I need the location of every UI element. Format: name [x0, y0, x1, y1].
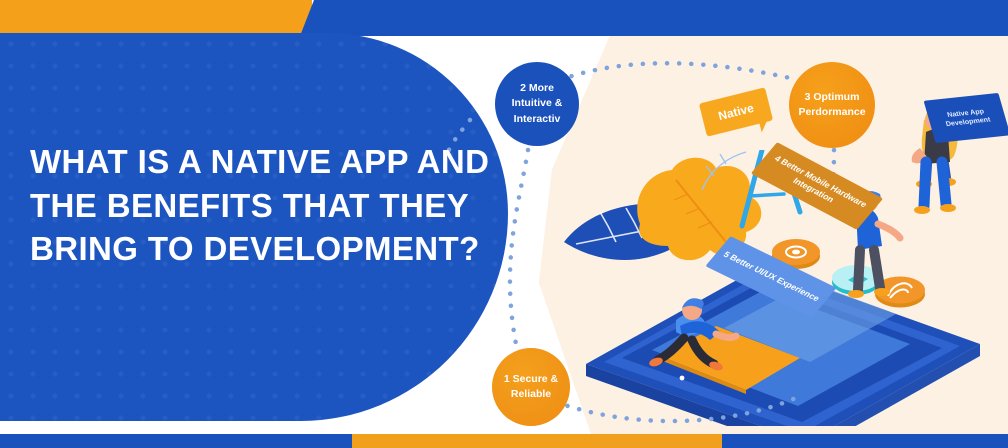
- badge-secure-reliable[interactable]: 1 Secure & Reliable: [492, 348, 570, 426]
- top-blue-strip: [300, 0, 1008, 36]
- banner-canvas: WHAT IS A NATIVE APP AND THE BENEFITS TH…: [0, 0, 1008, 448]
- page-title: WHAT IS A NATIVE APP AND THE BENEFITS TH…: [30, 140, 500, 271]
- badge-more-intuitive[interactable]: 2 More Intuitive & Interactiv: [495, 62, 579, 146]
- badge-optimum-performance[interactable]: 3 Optimum Perdormance: [789, 62, 875, 148]
- bottom-orange-strip: [352, 434, 722, 448]
- top-orange-strip: [0, 0, 312, 36]
- ribbon-native-app-development[interactable]: Native App Development: [924, 93, 1008, 143]
